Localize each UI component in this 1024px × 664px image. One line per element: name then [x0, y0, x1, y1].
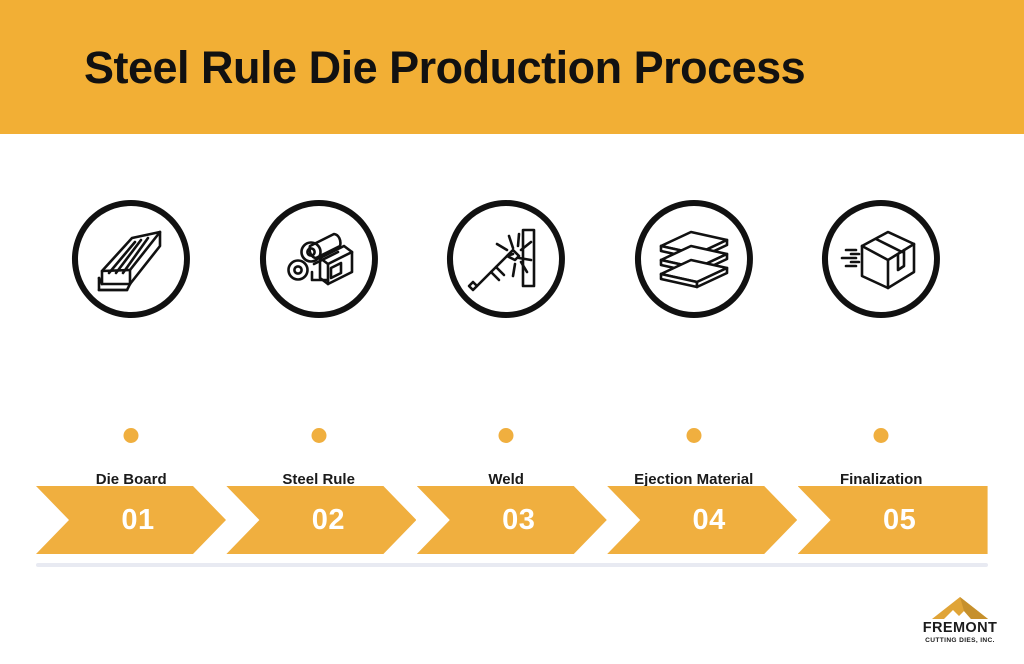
step-number: 01	[36, 486, 226, 554]
step-number: 04	[607, 486, 797, 554]
timeline-dot	[874, 428, 889, 443]
timeline-rail	[36, 563, 988, 567]
process-step[interactable]: Ejection Material Placement	[599, 134, 789, 534]
step-number: 05	[798, 486, 988, 554]
timeline-dot	[124, 428, 139, 443]
layered-sheets-icon	[631, 198, 757, 334]
process-step[interactable]: Die Board Preparation	[36, 134, 226, 534]
process-diagram: Die Board Preparation	[0, 134, 1024, 664]
page-title: Steel Rule Die Production Process	[84, 45, 805, 90]
company-logo[interactable]: FREMONT CUTTING DIES, INC.	[912, 596, 1008, 650]
process-step[interactable]: Finalization & Shipping	[786, 134, 976, 534]
step-number: 02	[226, 486, 416, 554]
step-number-chevron[interactable]: 01	[36, 486, 226, 554]
mountain-peak-icon	[931, 596, 989, 620]
step-number-chevron[interactable]: 03	[417, 486, 607, 554]
process-step[interactable]: Steel Rule Insertion	[224, 134, 414, 534]
chevron-band: 01 02 03 04 05	[36, 486, 988, 554]
timeline-dot	[499, 428, 514, 443]
header-banner: Steel Rule Die Production Process	[0, 0, 1024, 134]
timeline-dot	[686, 428, 701, 443]
timeline-dot	[311, 428, 326, 443]
logo-tagline: CUTTING DIES, INC.	[912, 638, 1008, 645]
steel-rule-stock-icon	[256, 198, 382, 334]
step-number-chevron[interactable]: 04	[607, 486, 797, 554]
shipping-box-icon	[818, 198, 944, 334]
process-step[interactable]: Weld & Blaze	[411, 134, 601, 534]
step-number: 03	[417, 486, 607, 554]
welding-torch-icon	[443, 198, 569, 334]
step-number-chevron[interactable]: 05	[798, 486, 988, 554]
step-number-chevron[interactable]: 02	[226, 486, 416, 554]
logo-name: FREMONT	[912, 621, 1008, 636]
steps-row: Die Board Preparation	[36, 134, 988, 664]
die-board-lumber-icon	[68, 198, 194, 334]
